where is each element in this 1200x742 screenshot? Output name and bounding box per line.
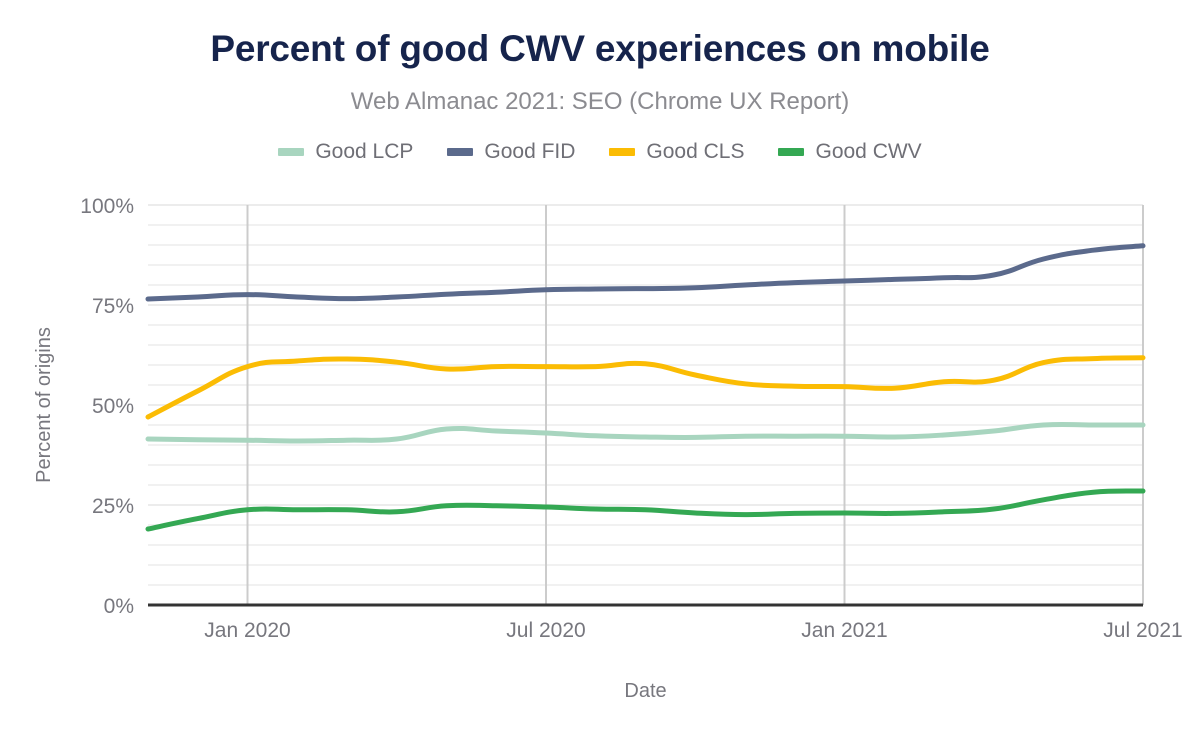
y-axis-tick-label: 25% (92, 495, 134, 518)
y-axis-title: Percent of origins (33, 327, 55, 483)
y-axis-tick-label: 0% (104, 595, 134, 618)
y-axis-tick-label: 100% (80, 195, 134, 218)
y-axis-tick-label: 50% (92, 395, 134, 418)
x-axis-tick-label: Jan 2021 (801, 619, 887, 642)
y-axis-tick-label: 75% (92, 295, 134, 318)
series-line-good-lcp (148, 424, 1143, 441)
series-line-good-cwv (148, 491, 1143, 529)
series-line-good-cls (148, 358, 1143, 417)
series-line-good-fid (148, 246, 1143, 299)
chart-plot-area: 0%25%50%75%100%Jan 2020Jul 2020Jan 2021J… (0, 0, 1200, 742)
x-axis-tick-label: Jan 2020 (204, 619, 290, 642)
x-axis-title: Date (624, 680, 666, 702)
x-axis-tick-label: Jul 2020 (506, 619, 585, 642)
x-axis-tick-label: Jul 2021 (1103, 619, 1182, 642)
chart-container: Percent of good CWV experiences on mobil… (0, 0, 1200, 742)
